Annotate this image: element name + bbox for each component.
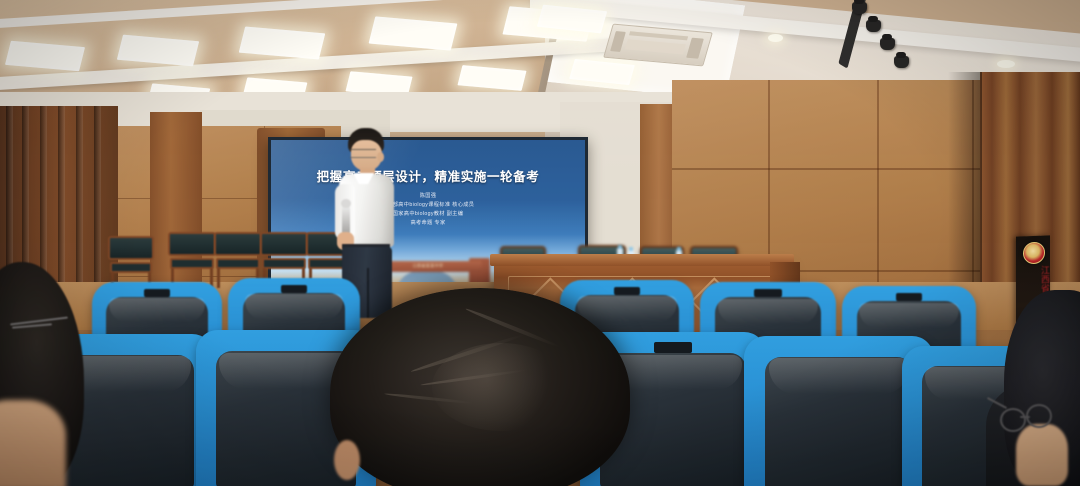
spotlight-icon — [852, 2, 867, 14]
lecture-hall-photo: 把握高考顶层设计，精准实施一轮备考 陈国强 教育部高中biology课程标准 核… — [0, 0, 1080, 486]
spotlight-icon — [880, 38, 895, 50]
eyeglasses-icon[interactable] — [1000, 400, 1054, 452]
presenter-leg-separation — [367, 268, 369, 318]
spotlight-icon — [866, 20, 881, 32]
presenter-ear — [377, 152, 384, 162]
recessed-downlight-icon — [768, 34, 783, 42]
eyeglasses-icon — [10, 316, 70, 328]
head-table-top — [490, 254, 794, 266]
audience-neck-left — [0, 400, 66, 486]
eyeglasses-icon — [350, 149, 376, 158]
banner-emblem-icon — [1023, 242, 1045, 265]
recessed-downlight-icon — [997, 60, 1015, 68]
audience-head-center — [330, 288, 630, 486]
spotlight-icon — [894, 56, 909, 68]
banner-text: 江西省 — [1016, 265, 1050, 293]
